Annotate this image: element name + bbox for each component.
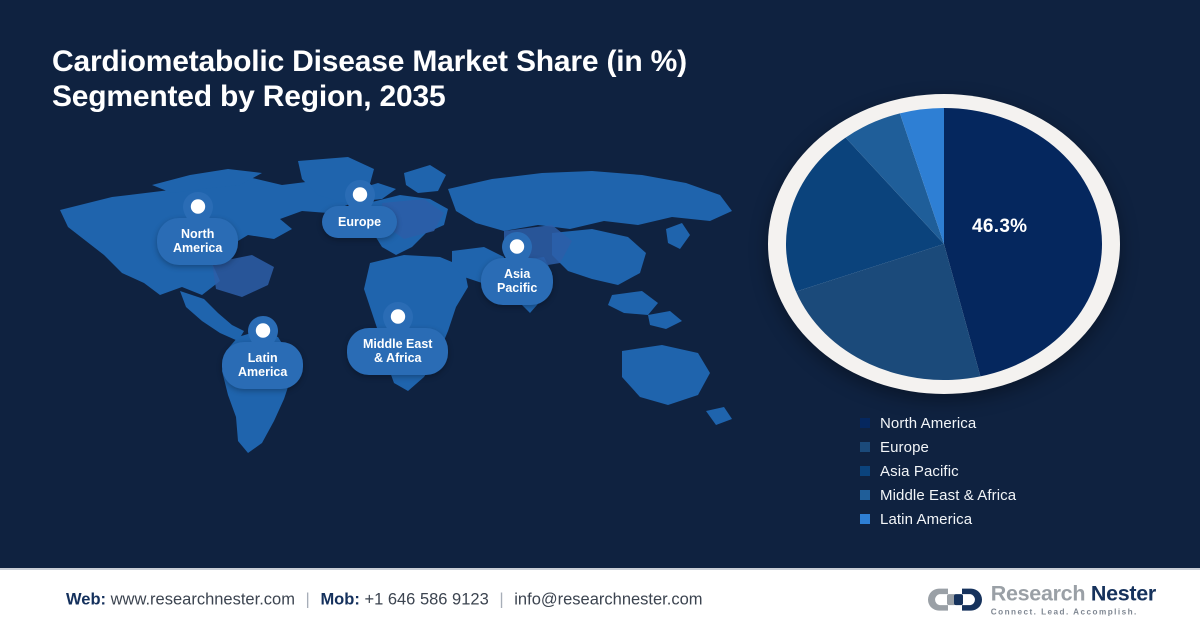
footer-bar: Web: www.researchnester.com | Mob: +1 64…	[0, 568, 1200, 628]
legend-swatch-icon	[860, 418, 870, 428]
pie-chart: 46.3%	[760, 88, 1130, 408]
legend-label: Asia Pacific	[880, 463, 959, 480]
legend-swatch-icon	[860, 514, 870, 524]
logo-name: Research Nester	[991, 584, 1156, 606]
pie-slices	[786, 108, 1102, 380]
logo-wordmark: Research Nester Connect. Lead. Accomplis…	[991, 584, 1156, 617]
legend-label: Middle East & Africa	[880, 487, 1016, 504]
legend-swatch-icon	[860, 466, 870, 476]
pie-value-label: 46.3%	[972, 216, 1027, 238]
logo-word-nester: Nester	[1091, 582, 1156, 606]
footer-mob-label: Mob:	[320, 591, 359, 609]
research-nester-logo[interactable]: Research Nester Connect. Lead. Accomplis…	[928, 584, 1156, 617]
legend-item-north-america[interactable]: North America	[860, 411, 1160, 435]
legend-swatch-icon	[860, 442, 870, 452]
footer-email-value[interactable]: info@researchnester.com	[514, 591, 702, 609]
footer-mob-value: +1 646 586 9123	[364, 591, 488, 609]
legend-label: North America	[880, 415, 976, 432]
marker-north-america[interactable]: North America	[157, 192, 238, 265]
logo-word-research: Research	[991, 582, 1085, 606]
footer-separator: |	[300, 591, 316, 609]
footer-contact: Web: www.researchnester.com | Mob: +1 64…	[66, 591, 703, 610]
legend-swatch-icon	[860, 490, 870, 500]
legend-label: Latin America	[880, 511, 972, 528]
marker-europe[interactable]: Europe	[322, 180, 397, 238]
main-panel: Cardiometabolic Disease Market Share (in…	[0, 0, 1200, 568]
page-title: Cardiometabolic Disease Market Share (in…	[52, 44, 812, 115]
marker-asia-pacific[interactable]: Asia Pacific	[481, 232, 553, 305]
marker-latin-america[interactable]: Latin America	[222, 316, 303, 389]
legend-label: Europe	[880, 439, 929, 456]
legend-item-asia-pacific[interactable]: Asia Pacific	[860, 459, 1160, 483]
logo-mark-icon	[928, 586, 982, 614]
footer-separator: |	[493, 591, 509, 609]
footer-web-value[interactable]: www.researchnester.com	[111, 591, 295, 609]
map-pin-icon	[183, 192, 213, 232]
infographic-root: Cardiometabolic Disease Market Share (in…	[0, 0, 1200, 628]
map-pin-icon	[383, 302, 413, 342]
legend-item-middle-east-africa[interactable]: Middle East & Africa	[860, 483, 1160, 507]
footer-web-label: Web:	[66, 591, 106, 609]
map-pin-icon	[248, 316, 278, 356]
legend-item-europe[interactable]: Europe	[860, 435, 1160, 459]
map-pin-icon	[502, 232, 532, 272]
legend-item-latin-america[interactable]: Latin America	[860, 507, 1160, 531]
marker-middle-east-africa[interactable]: Middle East & Africa	[347, 302, 448, 375]
chart-legend: North America Europe Asia Pacific Middle…	[860, 411, 1160, 531]
map-pin-icon	[345, 180, 375, 220]
logo-tagline: Connect. Lead. Accomplish.	[991, 608, 1156, 616]
